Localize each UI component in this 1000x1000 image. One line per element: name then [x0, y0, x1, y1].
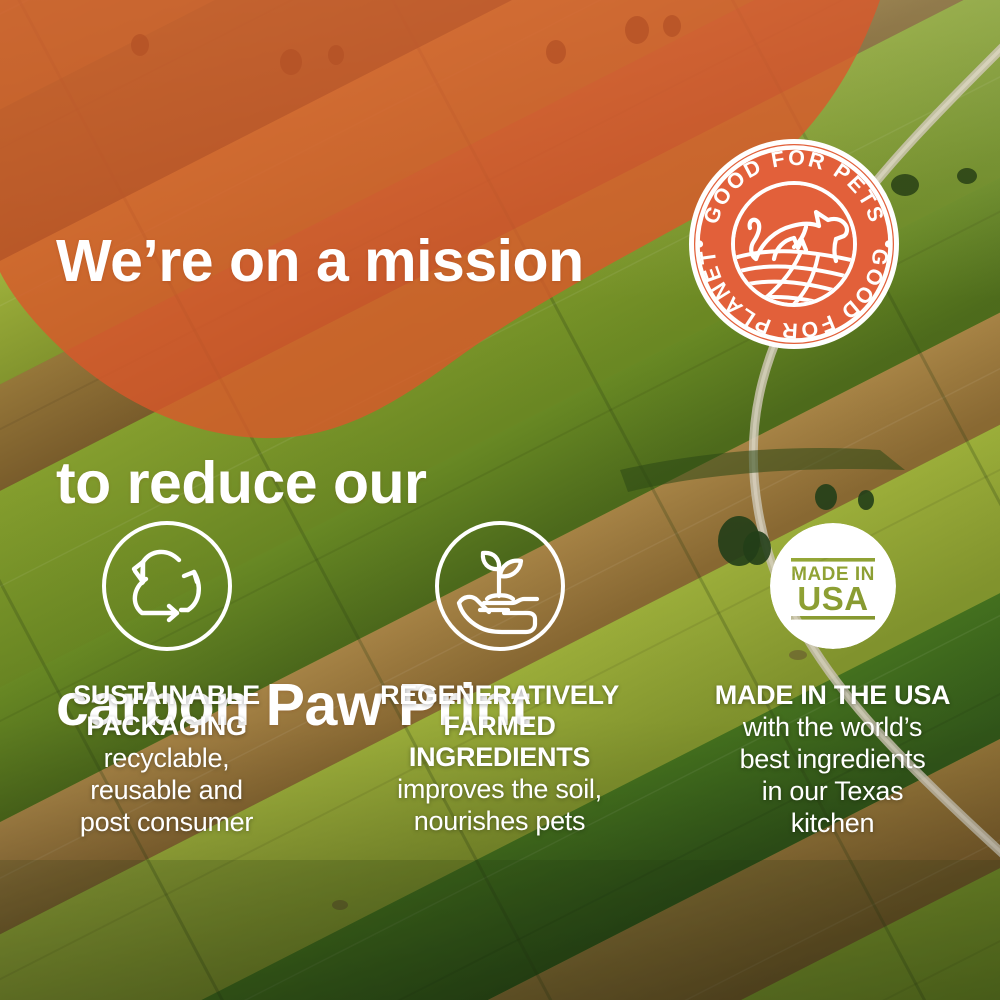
feature-desc-line-2: nourishes pets — [355, 805, 645, 837]
headline-line-1: We’re on a mission — [56, 224, 584, 298]
feature-text-block: SUSTAINABLE PACKAGING recyclable, reusab… — [42, 680, 292, 838]
feature-regeneratively-farmed-ingredients: REGENERATIVELY FARMED INGREDIENTS improv… — [333, 520, 666, 837]
promo-graphic: We’re on a mission to reduce our carbon … — [0, 0, 1000, 1000]
feature-title-line-1: REGENERATIVELY — [355, 680, 645, 711]
feature-desc-line-2: best ingredients — [683, 743, 983, 775]
feature-desc-line-1: with the world’s — [683, 711, 983, 743]
feature-desc-line-2: reusable and — [42, 774, 292, 806]
feature-title-line-2: PACKAGING — [42, 711, 292, 742]
good-for-pets-good-for-planet-seal: GOOD FOR PETS GOOD FOR PLANET — [688, 138, 900, 350]
feature-title-line-3: INGREDIENTS — [355, 742, 645, 773]
feature-made-in-usa: MADE IN USA MADE IN THE USA with the wor… — [666, 520, 999, 839]
recycle-icon — [101, 520, 233, 652]
feature-desc-line-1: improves the soil, — [355, 773, 645, 805]
seal-dot-right — [885, 240, 892, 247]
feature-text-block: MADE IN THE USA with the world’s best in… — [683, 680, 983, 839]
seal-dot-left — [696, 240, 703, 247]
made-in-usa-icon: MADE IN USA — [767, 520, 899, 652]
headline-line-2: to reduce our — [56, 446, 584, 520]
feature-title-line-1: MADE IN THE USA — [683, 680, 983, 711]
feature-desc-line-3: in our Texas — [683, 775, 983, 807]
feature-title-line-1: SUSTAINABLE — [42, 680, 292, 711]
hand-sprout-icon — [434, 520, 566, 652]
feature-desc-line-1: recyclable, — [42, 742, 292, 774]
feature-title-line-2: FARMED — [355, 711, 645, 742]
feature-sustainable-packaging: SUSTAINABLE PACKAGING recyclable, reusab… — [0, 520, 333, 838]
feature-desc-line-3: post consumer — [42, 806, 292, 838]
feature-text-block: REGENERATIVELY FARMED INGREDIENTS improv… — [355, 680, 645, 837]
feature-columns: SUSTAINABLE PACKAGING recyclable, reusab… — [0, 520, 1000, 839]
feature-desc-line-4: kitchen — [683, 807, 983, 839]
